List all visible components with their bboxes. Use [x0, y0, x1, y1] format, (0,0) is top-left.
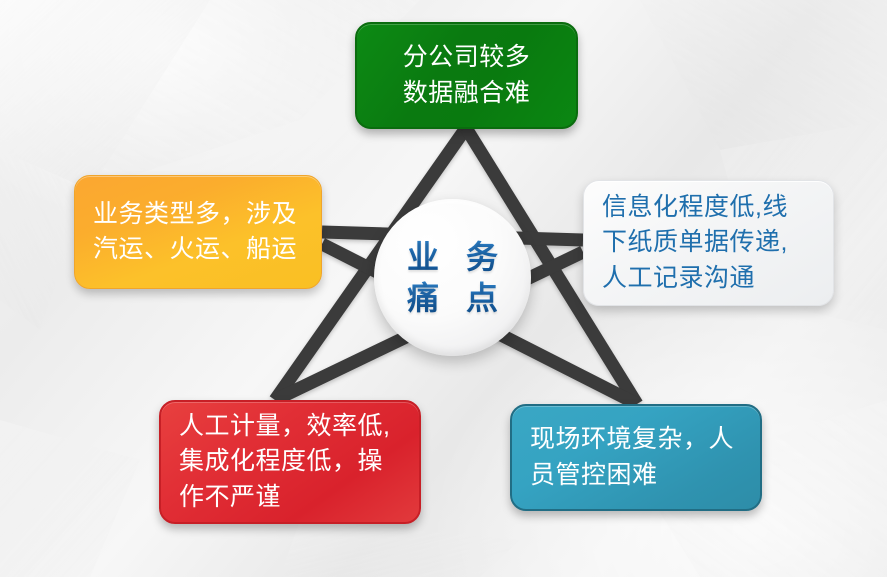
node-label-orange: 业务类型多，涉及 汽运、火运、船运 [93, 197, 303, 268]
center-node: 业 务 痛 点 [374, 199, 531, 356]
node-box-green[interactable]: 分公司较多 数据融合难 [355, 22, 578, 129]
node-box-teal[interactable]: 现场环境复杂，人 员管控困难 [510, 404, 762, 511]
diagram-canvas: 业 务 痛 点 分公司较多 数据融合难 业务类型多，涉及 汽运、火运、船运 信息… [0, 0, 887, 577]
node-label-green: 分公司较多 数据融合难 [375, 40, 558, 111]
node-label-white: 信息化程度低,线 下纸质单据传递, 人工记录沟通 [602, 190, 815, 297]
center-label-line2: 痛 点 [398, 278, 507, 319]
node-box-red[interactable]: 人工计量，效率低, 集成化程度低，操 作不严谨 [159, 400, 421, 524]
node-label-teal: 现场环境复杂，人 员管控困难 [530, 422, 742, 493]
node-box-orange[interactable]: 业务类型多，涉及 汽运、火运、船运 [74, 175, 322, 289]
node-label-red: 人工计量，效率低, 集成化程度低，操 作不严谨 [179, 409, 401, 516]
center-label-line1: 业 务 [398, 237, 507, 278]
node-box-white[interactable]: 信息化程度低,线 下纸质单据传递, 人工记录沟通 [583, 180, 834, 306]
